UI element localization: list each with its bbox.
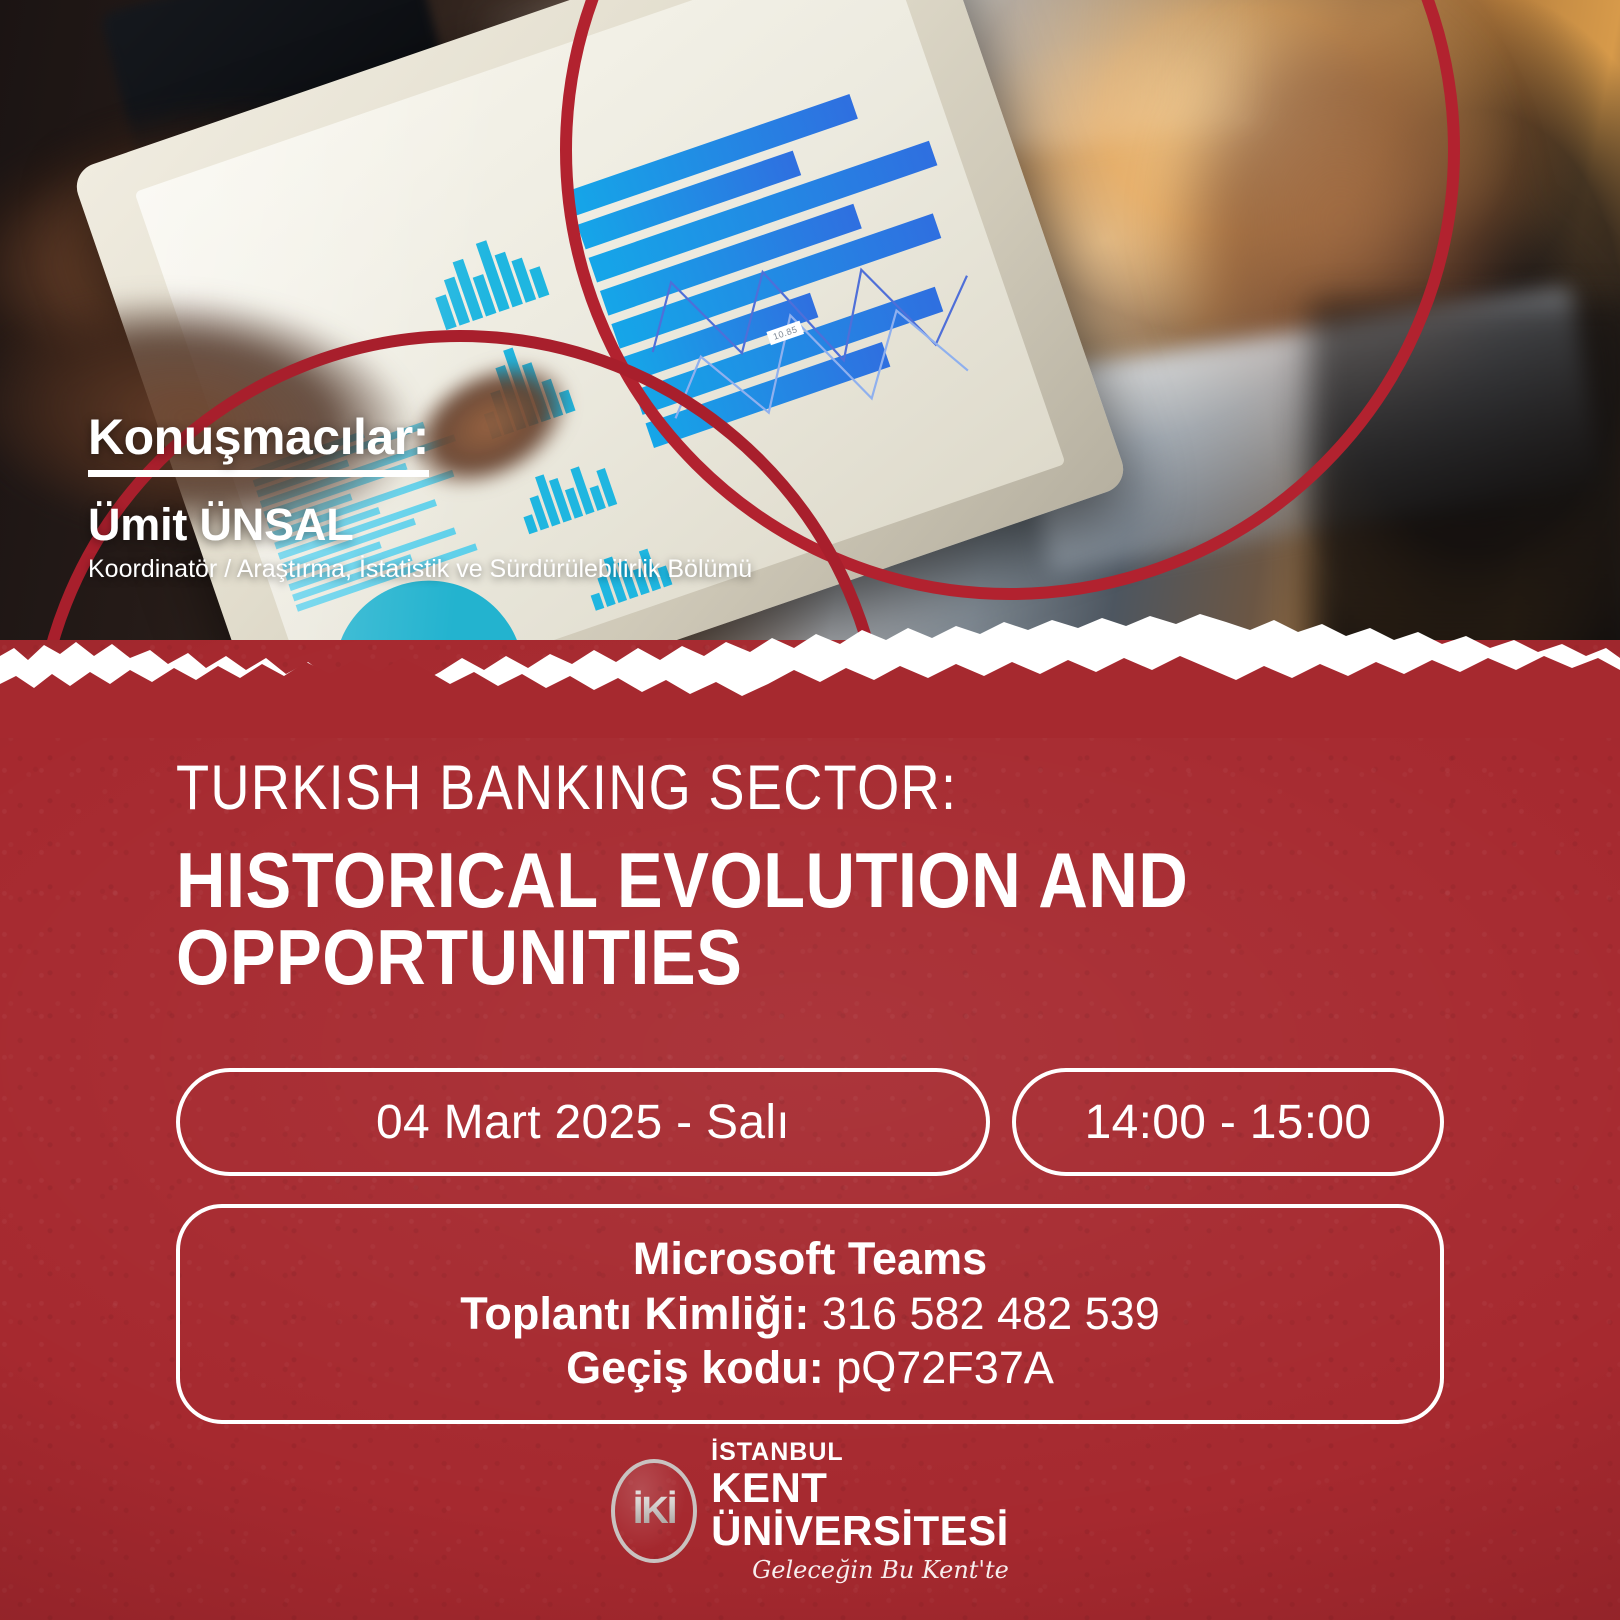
university-logo: İKİ İSTANBUL KENT ÜNİVERSİTESİ Geleceğin…	[0, 1440, 1620, 1582]
meeting-id-value: 316 582 482 539	[822, 1288, 1160, 1339]
torn-paper-edge	[0, 598, 1620, 738]
chart-annotation: 10.85	[766, 321, 804, 346]
logo-wordmark: İSTANBUL KENT ÜNİVERSİTESİ Geleceğin Bu …	[711, 1440, 1009, 1582]
title-block: TURKISH BANKING SECTOR: HISTORICAL EVOLU…	[176, 752, 1476, 996]
logo-tagline: Geleceğin Bu Kent'te	[711, 1558, 1009, 1582]
emblem-monogram: İKİ	[611, 1459, 697, 1563]
meeting-id-line: Toplantı Kimliği: 316 582 482 539	[460, 1287, 1159, 1342]
header-photo: 10.85	[0, 0, 1620, 700]
title-main: HISTORICAL EVOLUTION AND OPPORTUNITIES	[176, 842, 1320, 996]
speaker-role: Koordinatör / Araştırma, İstatistik ve S…	[88, 555, 788, 585]
logo-line-istanbul: İSTANBUL	[711, 1440, 1009, 1465]
chart-big-bars	[566, 68, 1014, 448]
passcode-label: Geçiş kodu:	[566, 1342, 824, 1393]
meeting-id-label: Toplantı Kimliği:	[460, 1288, 809, 1339]
title-line-1: HISTORICAL EVOLUTION AND	[176, 842, 1320, 919]
event-time-pill: 14:00 - 15:00	[1012, 1068, 1444, 1176]
event-poster: 10.85 Konuşmacılar: Ümit ÜNSAL Koordinat…	[0, 0, 1620, 1620]
meeting-platform: Microsoft Teams	[633, 1232, 987, 1287]
logo-line-kent: KENT	[711, 1467, 1009, 1509]
event-meta-row: 04 Mart 2025 - Salı 14:00 - 15:00	[176, 1068, 1444, 1176]
title-overline: TURKISH BANKING SECTOR:	[176, 752, 1294, 824]
passcode-line: Geçiş kodu: pQ72F37A	[566, 1341, 1054, 1396]
event-date-pill: 04 Mart 2025 - Salı	[176, 1068, 990, 1176]
university-emblem-icon: İKİ	[611, 1459, 697, 1563]
speakers-block: Konuşmacılar: Ümit ÜNSAL Koordinatör / A…	[88, 408, 788, 585]
speakers-heading: Konuşmacılar:	[88, 408, 429, 477]
logo-line-universitesi: ÜNİVERSİTESİ	[711, 1510, 1009, 1552]
meeting-details-box: Microsoft Teams Toplantı Kimliği: 316 58…	[176, 1204, 1444, 1424]
passcode-value: pQ72F37A	[836, 1342, 1054, 1393]
speaker-name: Ümit ÜNSAL	[88, 499, 788, 551]
title-line-2: OPPORTUNITIES	[176, 919, 1320, 996]
